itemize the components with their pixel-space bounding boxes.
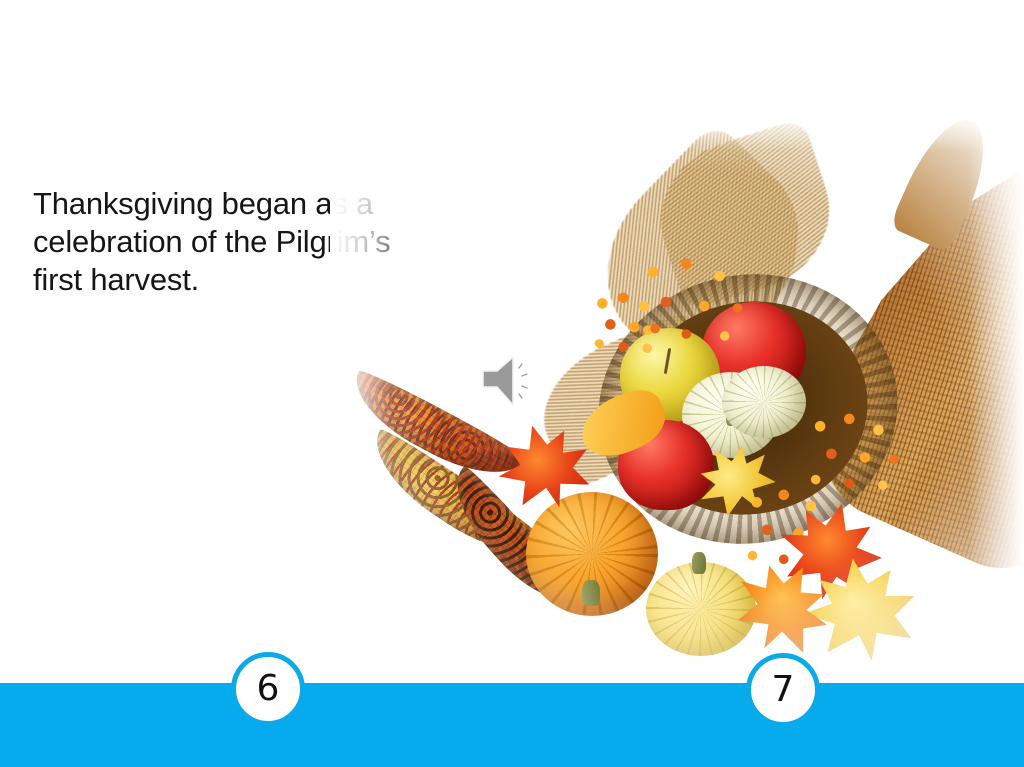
berry-cluster-left — [588, 288, 668, 358]
speaker-audio-icon[interactable] — [481, 355, 537, 407]
gourd-yellow-stem — [692, 552, 706, 574]
slide-canvas: Thanksgiving began as a celebration of t… — [0, 0, 1024, 683]
footer-bar — [0, 683, 1024, 767]
berry-cluster-right — [800, 406, 912, 498]
gourd-yellow — [646, 562, 756, 656]
slide-viewer: Thanksgiving began as a celebration of t… — [0, 0, 1024, 767]
gourd-white-right — [722, 366, 806, 438]
pumpkin-orange-stem — [582, 580, 600, 606]
cornucopia-image — [330, 110, 1024, 683]
slide-number-badge-7[interactable]: 7 — [746, 653, 820, 727]
slide-number-badge-6[interactable]: 6 — [231, 652, 305, 726]
